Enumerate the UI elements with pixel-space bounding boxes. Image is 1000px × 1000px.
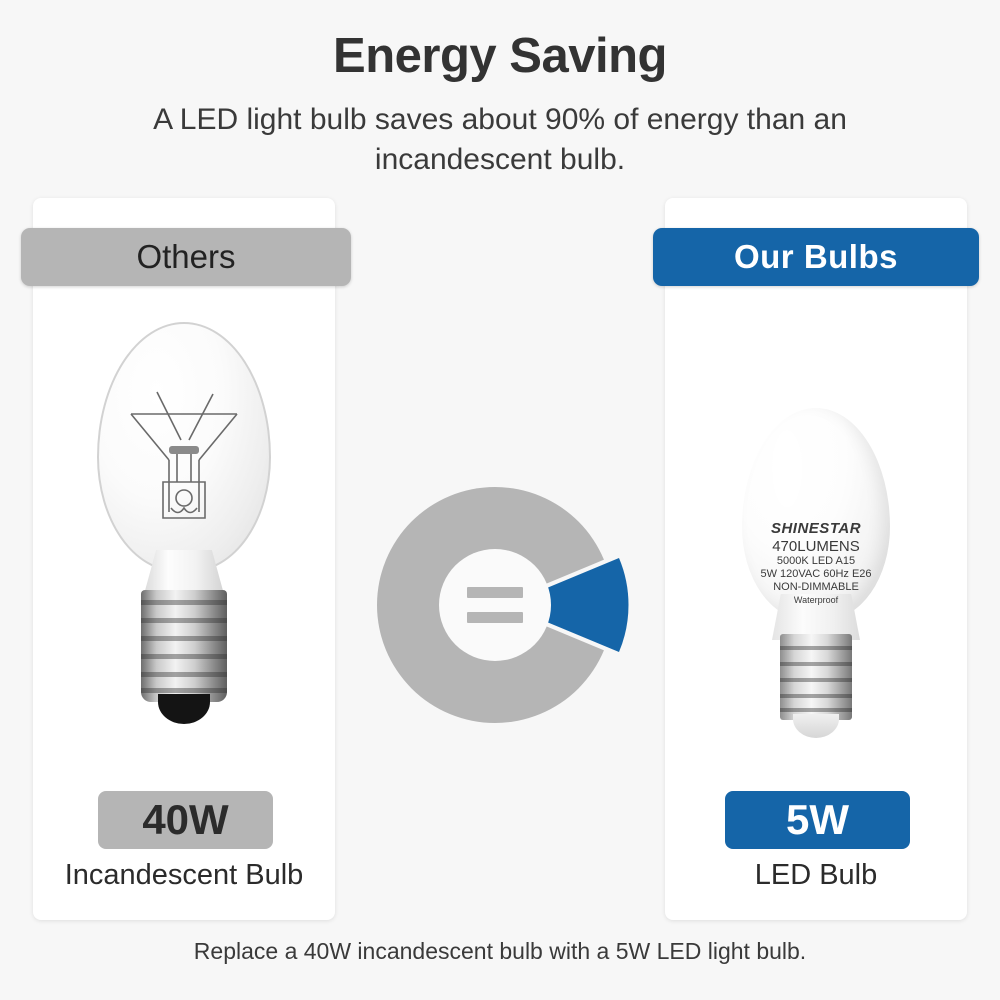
led-bulb-print: SHINESTAR 470LUMENS 5000K LED A15 5W 120…: [736, 520, 896, 605]
wattage-badge-incandescent-label: 40W: [142, 796, 228, 844]
footer-note: Replace a 40W incandescent bulb with a 5…: [0, 938, 1000, 965]
wattage-badge-led-label: 5W: [786, 796, 849, 844]
led-bulb-icon: SHINESTAR 470LUMENS 5000K LED A15 5W 120…: [736, 408, 896, 748]
led-base-tip: [793, 714, 839, 738]
page-title: Energy Saving: [0, 28, 1000, 84]
energy-saving-infographic: Energy Saving A LED light bulb saves abo…: [0, 0, 1000, 1000]
led-spec-line-4: Waterproof: [736, 595, 896, 605]
bulb-screw-base: [141, 590, 227, 702]
led-screw-base: [780, 634, 852, 720]
caption-led-bulb: LED Bulb: [665, 859, 967, 892]
bulb-base-tip: [158, 694, 210, 724]
energy-donut-chart: [360, 470, 630, 740]
banner-our-bulbs: Our Bulbs: [653, 228, 979, 286]
led-lumens-text: 470LUMENS: [736, 538, 896, 555]
filament-icon: [97, 322, 271, 572]
led-highlight: [772, 430, 802, 508]
led-spec-line-1: 5000K LED A15: [736, 555, 896, 568]
led-bulb-stage: SHINESTAR 470LUMENS 5000K LED A15 5W 120…: [665, 310, 967, 770]
banner-others-label: Others: [136, 238, 235, 276]
led-spec-line-3: NON-DIMMABLE: [736, 581, 896, 594]
caption-incandescent-bulb: Incandescent Bulb: [33, 859, 335, 892]
incandescent-bulb-stage: [33, 310, 335, 770]
wattage-badge-incandescent: 40W: [98, 791, 273, 849]
page-subtitle: A LED light bulb saves about 90% of ener…: [130, 100, 870, 180]
incandescent-bulb-icon: [89, 322, 279, 762]
wattage-badge-led: 5W: [725, 791, 910, 849]
equals-icon: [467, 587, 523, 623]
banner-others: Others: [21, 228, 351, 286]
led-spec-line-2: 5W 120VAC 60Hz E26: [736, 568, 896, 581]
led-brand-text: SHINESTAR: [736, 520, 896, 537]
banner-our-bulbs-label: Our Bulbs: [734, 238, 898, 276]
